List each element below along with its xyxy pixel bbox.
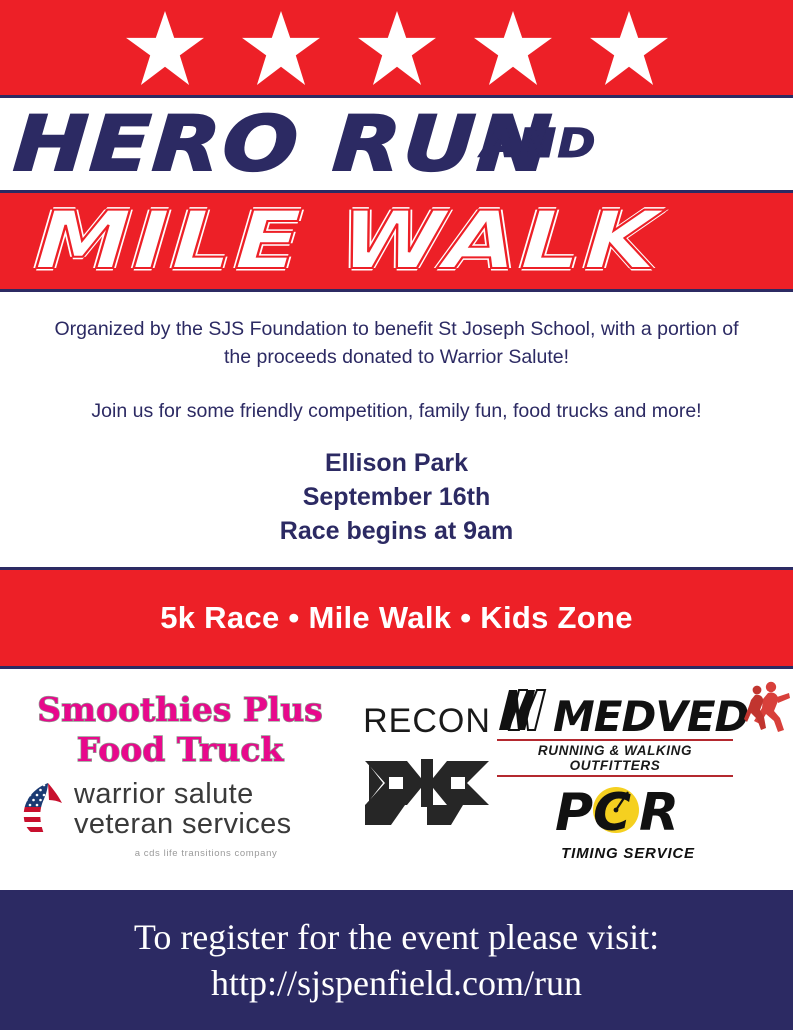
recon-wordmark: RECON: [362, 702, 492, 741]
event-start-time: Race begins at 9am: [0, 514, 793, 548]
title-banner-secondary: MILE WALK: [0, 193, 793, 289]
sponsor-smoothies-plus: Smoothies Plus Food Truck: [20, 690, 340, 771]
star-icon: [358, 11, 436, 85]
star-icon: [242, 11, 320, 85]
sponsor-medved: MEDVED RUNNIN: [497, 680, 737, 777]
registration-prompt: To register for the event please visit:: [134, 914, 659, 960]
event-types-label: 5k Race • Mile Walk • Kids Zone: [160, 600, 633, 636]
event-details: Ellison Park September 16th Race begins …: [0, 446, 793, 548]
sponsors-section: Smoothies Plus Food Truck: [0, 672, 793, 890]
event-date: September 16th: [0, 480, 793, 514]
medved-logo-row: MEDVED: [497, 680, 737, 737]
registration-url[interactable]: http://sjspenfield.com/run: [211, 960, 582, 1006]
svg-text:P: P: [555, 783, 593, 842]
sponsor-warrior-salute: warrior salute veteran services: [18, 780, 358, 839]
warrior-line-1: warrior salute: [74, 780, 292, 810]
recon-monogram-icon: [365, 812, 489, 829]
event-types-banner: 5k Race • Mile Walk • Kids Zone: [0, 570, 793, 666]
smoothies-line-2: Food Truck: [20, 730, 340, 770]
event-flyer: HERO RUN AND MILE WALK Organized by the …: [0, 0, 793, 1030]
title-mile-walk: MILE WALK: [34, 201, 664, 281]
sponsor-pcr: P C R TIMING SERVICE: [548, 780, 708, 862]
title-hero-run: HERO RUN: [12, 106, 556, 182]
divider-rule: [0, 666, 793, 669]
us-flag-swoosh-icon: [18, 781, 70, 839]
star-icon: [126, 11, 204, 85]
runners-icon: [744, 680, 790, 741]
svg-text:C: C: [593, 783, 631, 842]
title-and-suffix: AND: [481, 121, 597, 167]
svg-text:R: R: [639, 783, 679, 842]
description-paragraph-1: Organized by the SJS Foundation to benef…: [52, 316, 742, 371]
title-banner-primary: HERO RUN AND: [0, 98, 793, 190]
description-paragraph-2: Join us for some friendly competition, f…: [52, 398, 742, 426]
medved-m-icon: [497, 688, 555, 737]
medved-tagline: RUNNING & WALKING OUTFITTERS: [497, 743, 733, 773]
pcr-tagline: TIMING SERVICE: [548, 845, 708, 862]
medved-rule-bottom: [497, 775, 733, 777]
registration-banner: To register for the event please visit: …: [0, 890, 793, 1030]
event-description-section: Organized by the SJS Foundation to benef…: [0, 292, 793, 567]
sponsor-recon: RECON: [362, 702, 492, 830]
smoothies-line-1: Smoothies Plus: [20, 690, 340, 730]
warrior-salute-wordmark: warrior salute veteran services: [74, 780, 292, 839]
warrior-line-2: veteran services: [74, 810, 292, 840]
star-icon: [474, 11, 552, 85]
star-icon: [590, 11, 668, 85]
warrior-salute-tagline: a cds life transitions company: [56, 848, 356, 859]
event-location: Ellison Park: [0, 446, 793, 480]
stars-banner: [0, 0, 793, 95]
medved-wordmark: MEDVED: [553, 697, 748, 737]
pcr-wordmark-with-stopwatch-icon: P C R: [548, 780, 708, 847]
